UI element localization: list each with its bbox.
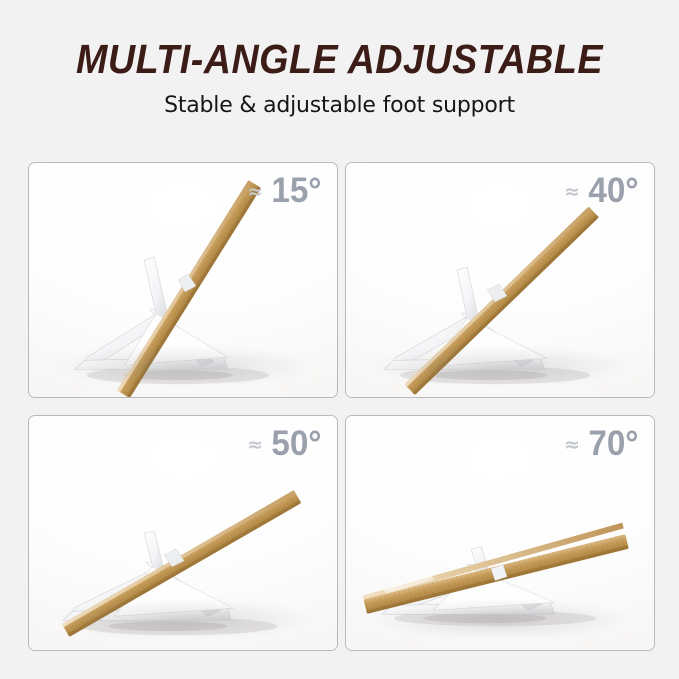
page-title: MULTI-ANGLE ADJUSTABLE	[27, 0, 652, 81]
angle-card[interactable]: ≈ 15°	[28, 162, 338, 398]
floor-shadow	[371, 346, 630, 383]
angle-value: 15°	[271, 173, 321, 208]
approx-icon: ≈	[247, 183, 263, 202]
angle-value: 50°	[271, 426, 321, 461]
angle-badge: ≈ 40°	[564, 173, 640, 208]
angle-card-grid: ≈ 15°	[28, 162, 655, 651]
angle-value: 70°	[588, 426, 638, 461]
angle-value: 40°	[588, 173, 638, 208]
angle-badge: ≈ 15°	[247, 173, 323, 208]
approx-icon: ≈	[564, 183, 580, 202]
approx-icon: ≈	[564, 436, 580, 455]
floor-shadow	[54, 599, 313, 636]
product-feature-page: MULTI-ANGLE ADJUSTABLE Stable & adjustab…	[0, 0, 679, 679]
page-subtitle: Stable & adjustable foot support	[0, 81, 679, 118]
floor-shadow	[54, 346, 313, 383]
angle-badge: ≈ 70°	[564, 426, 640, 461]
floor-shadow	[371, 599, 630, 636]
approx-icon: ≈	[247, 436, 263, 455]
header: MULTI-ANGLE ADJUSTABLE Stable & adjustab…	[0, 0, 679, 118]
angle-card[interactable]: ≈ 50°	[28, 415, 338, 651]
angle-card[interactable]: ≈ 40°	[345, 162, 655, 398]
angle-card[interactable]: ≈ 70°	[345, 415, 655, 651]
angle-badge: ≈ 50°	[247, 426, 323, 461]
